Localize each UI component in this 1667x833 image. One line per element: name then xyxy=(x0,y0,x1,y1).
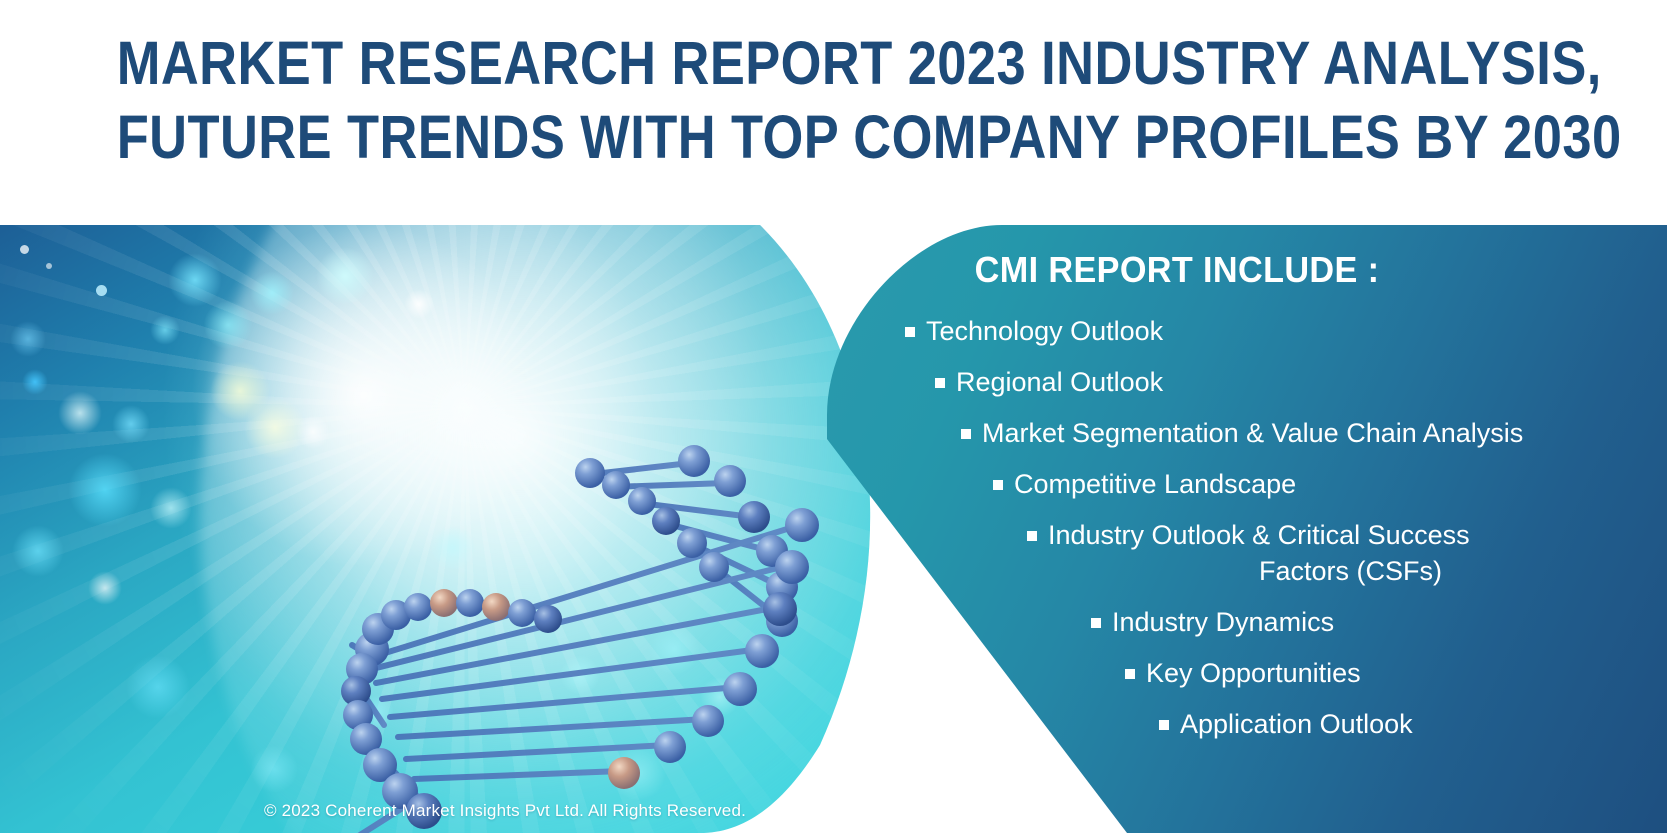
list-item: Competitive Landscape xyxy=(827,466,1627,502)
market-research-banner: MARKET RESEARCH REPORT 2023 INDUSTRY ANA… xyxy=(0,0,1667,833)
square-bullet-icon xyxy=(905,327,915,337)
list-item-label: Application Outlook xyxy=(1180,709,1413,739)
title-line-1: MARKET RESEARCH REPORT 2023 INDUSTRY ANA… xyxy=(117,26,1551,100)
list-item: Industry Outlook & Critical Success Fact… xyxy=(827,517,1627,589)
list-item-label: Technology Outlook xyxy=(926,316,1163,346)
list-item-label-continued: Factors (CSFs) xyxy=(1027,553,1627,589)
list-item: Market Segmentation & Value Chain Analys… xyxy=(827,415,1627,451)
list-item-label: Competitive Landscape xyxy=(1014,469,1296,499)
list-item-label: Industry Dynamics xyxy=(1112,607,1334,637)
list-item: Key Opportunities xyxy=(827,655,1627,691)
report-include-list: Technology Outlook Regional Outlook Mark… xyxy=(827,313,1627,757)
list-item: Technology Outlook xyxy=(827,313,1627,349)
square-bullet-icon xyxy=(1027,531,1037,541)
list-item: Regional Outlook xyxy=(827,364,1627,400)
title-line-2: FUTURE TRENDS WITH TOP COMPANY PROFILES … xyxy=(117,100,1551,174)
list-item-label: Key Opportunities xyxy=(1146,658,1361,688)
square-bullet-icon xyxy=(993,480,1003,490)
square-bullet-icon xyxy=(1125,669,1135,679)
page-title: MARKET RESEARCH REPORT 2023 INDUSTRY ANA… xyxy=(0,26,1667,174)
square-bullet-icon xyxy=(1159,720,1169,730)
list-item-label: Market Segmentation & Value Chain Analys… xyxy=(982,418,1523,448)
square-bullet-icon xyxy=(1091,618,1101,628)
list-item: Industry Dynamics xyxy=(827,604,1627,640)
square-bullet-icon xyxy=(935,378,945,388)
list-item-label: Regional Outlook xyxy=(956,367,1163,397)
square-bullet-icon xyxy=(961,429,971,439)
panel-heading: CMI REPORT INCLUDE : xyxy=(845,249,1510,291)
list-item-label: Industry Outlook & Critical Success xyxy=(1048,520,1470,550)
list-item: Application Outlook xyxy=(827,706,1627,742)
copyright-footer: © 2023 Coherent Market Insights Pvt Ltd.… xyxy=(0,801,1010,821)
cmi-report-panel: CMI REPORT INCLUDE : Technology Outlook … xyxy=(827,225,1667,833)
